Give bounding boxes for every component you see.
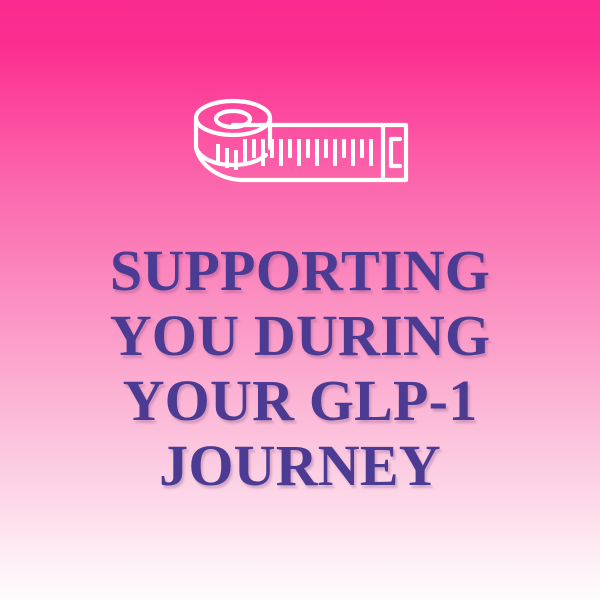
headline-line-1: SUPPORTING bbox=[24, 238, 576, 303]
headline-block: SUPPORTING YOU DURING YOUR GLP-1 JOURNEY bbox=[0, 238, 600, 498]
tape-measure-icon bbox=[178, 92, 422, 194]
poster-canvas: SUPPORTING YOU DURING YOUR GLP-1 JOURNEY bbox=[0, 0, 600, 600]
headline-line-3: YOUR GLP-1 bbox=[24, 368, 576, 433]
tape-measure-icon-container bbox=[0, 92, 600, 194]
headline-line-2: YOU DURING bbox=[24, 303, 576, 368]
headline-line-4: JOURNEY bbox=[24, 433, 576, 498]
